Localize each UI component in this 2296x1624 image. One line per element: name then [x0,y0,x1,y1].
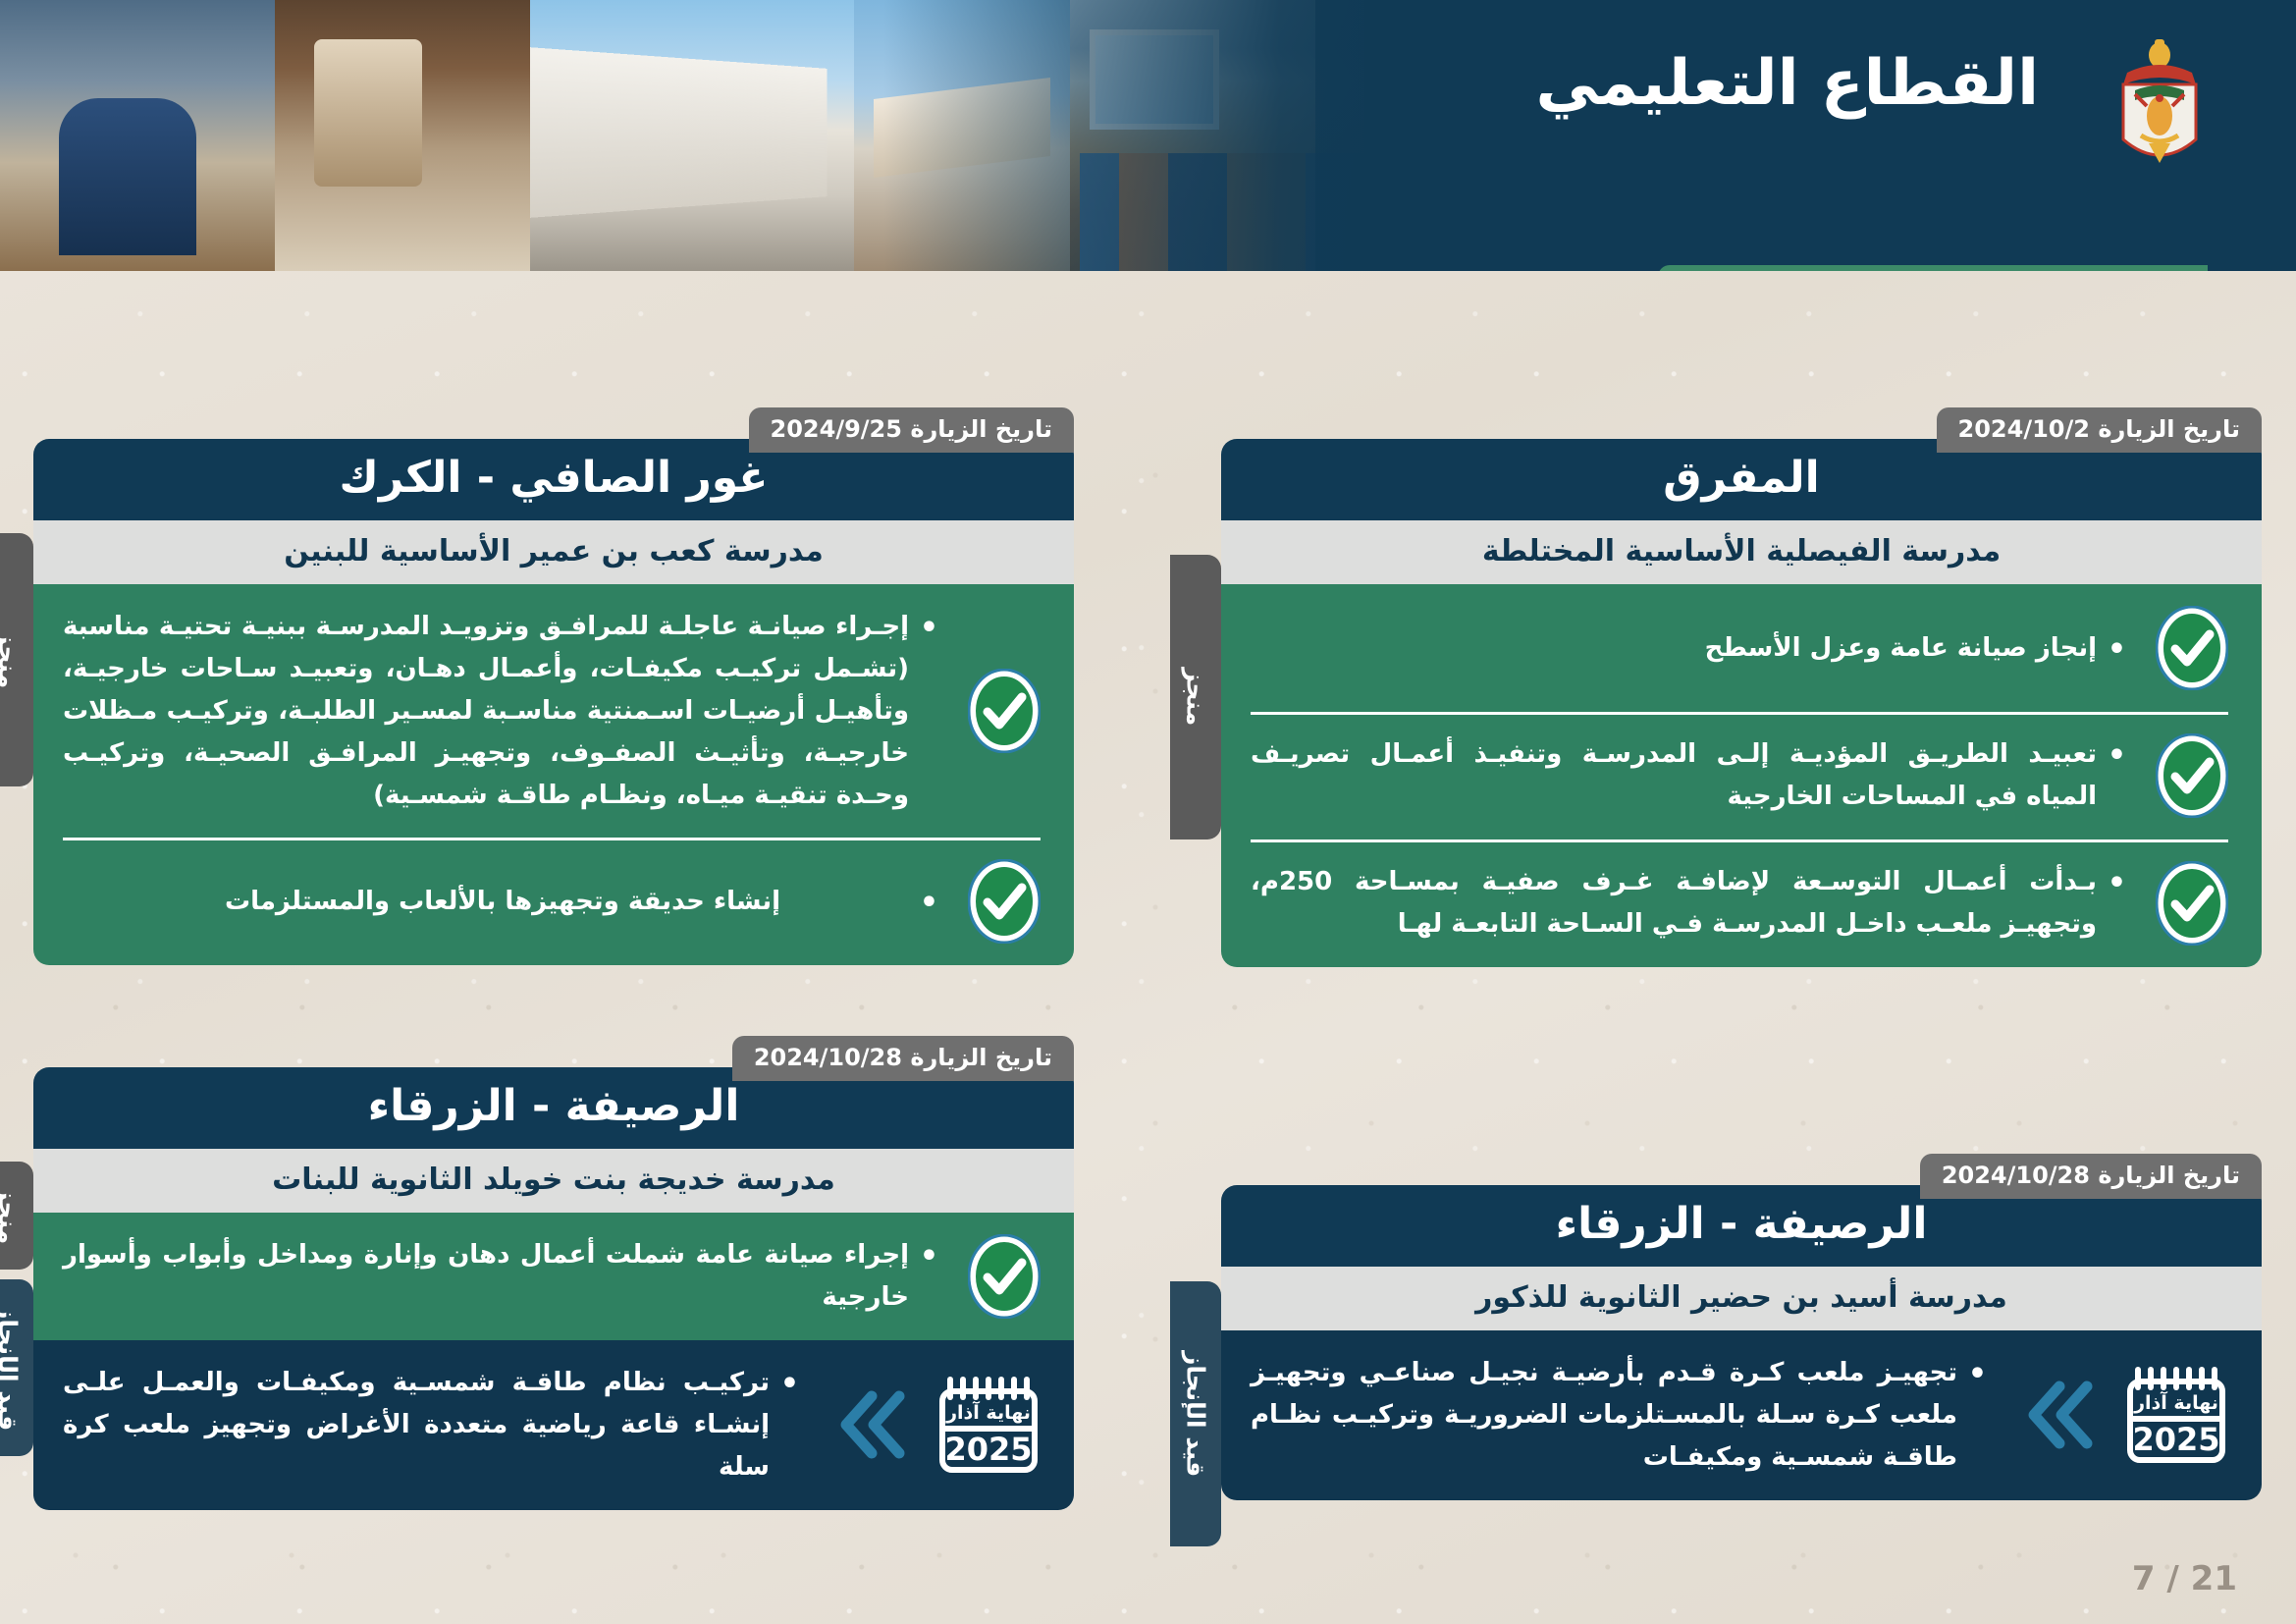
visit-date-chip: تاريخ الزيارة 2024/10/28 [1920,1154,2262,1199]
list-item[interactable]: إجـراء صيانـة عاجلـة للمرافـق وتزويـد ال… [33,584,1074,838]
header-photo-corridor [530,0,854,271]
list-item[interactable]: نهاية آذار 2025 تجهيـز ملعب كـرة قـدم بأ… [1221,1330,2262,1500]
section-ribbon: سير العمل [1658,265,2208,271]
list-item[interactable]: نهاية آذار 2025 تركيـب نظام طاقـة شمسـية… [33,1340,1074,1510]
list-item-text: تعبيـد الطريـق المؤديـة إلـى المدرسـة وت… [1251,733,2130,818]
page-title: القطاع التعليمي [1535,47,2039,120]
list-item-text: بـدأت أعمـال التوسـعة لإضافـة غـرف صفيـة… [1251,861,2130,946]
visit-date-label: تاريخ الزيارة [910,1044,1052,1071]
visit-date-chip: تاريخ الزيارة 2024/9/25 [749,407,1074,453]
visit-date-chip: تاريخ الزيارة 2024/10/2 [1937,407,2262,453]
list-item-text: إجـراء صيانـة عاجلـة للمرافـق وتزويـد ال… [63,606,942,816]
visit-date-label: تاريخ الزيارة [2098,415,2240,443]
status-badge-done: منجز [0,1162,33,1270]
check-circle-icon [2156,606,2228,690]
svg-text:2025: 2025 [944,1431,1032,1468]
svg-text:نهاية آذار: نهاية آذار [945,1400,1031,1424]
visit-date-value: 2024/10/2 [1958,415,2090,443]
visit-date-value: 2024/10/28 [1942,1162,2090,1189]
status-badge-done: منجز [0,533,33,786]
visit-date-label: تاريخ الزيارة [910,415,1052,443]
visit-date-value: 2024/10/28 [754,1044,902,1071]
list-item[interactable]: إنشاء حديقة وتجهيزها بالألعاب والمستلزما… [33,838,1074,965]
check-circle-icon [968,859,1041,944]
header-photo-visit [0,0,275,271]
visit-date-chip: تاريخ الزيارة 2024/10/28 [732,1036,1074,1081]
section-done: إنجاز صيانة عامة وعزل الأسطح تعبيـد الطر… [1221,584,2262,967]
check-circle-icon [2156,861,2228,946]
double-chevron-left-icon [828,1386,909,1463]
calendar-icon: نهاية آذار 2025 [2122,1364,2228,1466]
check-circle-icon [968,1234,1041,1319]
header-photo-fade-right [1315,0,1512,271]
calendar-icon: نهاية آذار 2025 [934,1374,1041,1476]
list-item[interactable]: بـدأت أعمـال التوسـعة لإضافـة غـرف صفيـة… [1221,839,2262,967]
page-number: 7 / 21 [2132,1559,2237,1598]
list-item[interactable]: إنجاز صيانة عامة وعزل الأسطح [1221,584,2262,712]
list-item[interactable]: تعبيـد الطريـق المؤديـة إلـى المدرسـة وت… [1221,712,2262,839]
visit-date-label: تاريخ الزيارة [2098,1162,2240,1189]
section-done: إجراء صيانة عامة شملت أعمال دهان وإنارة … [33,1213,1074,1340]
jordan-coat-of-arms-icon [2106,33,2214,181]
card-school-name: مدرسة كعب بن عمير الأساسية للبنين [33,520,1074,584]
header-photo-student-desk [275,0,530,271]
status-badge-in-progress: قيد الإنجاز [1170,1281,1221,1546]
slide-canvas: القطاع التعليمي سير العمل منجز تاريخ الز… [0,0,2296,1624]
section-in-progress: نهاية آذار 2025 تركيـب نظام طاقـة شمسـية… [33,1340,1074,1510]
check-circle-icon [2156,733,2228,818]
list-item-text: إجراء صيانة عامة شملت أعمال دهان وإنارة … [63,1234,942,1319]
list-item-text: إنشاء حديقة وتجهيزها بالألعاب والمستلزما… [63,881,942,923]
card-school-name: مدرسة الفيصلية الأساسية المختلطة [1221,520,2262,584]
check-circle-icon [968,669,1041,753]
svg-text:نهاية آذار: نهاية آذار [2133,1390,2218,1414]
list-item-text: إنجاز صيانة عامة وعزل الأسطح [1251,627,2130,670]
list-item-text: تركيـب نظام طاقـة شمسـية ومكيفـات والعمـ… [63,1362,803,1489]
slide-header: القطاع التعليمي سير العمل [0,0,2296,271]
card-school-name: مدرسة خديجة بنت خويلد الثانوية للبنات [33,1149,1074,1213]
status-badge-done: منجز [1170,555,1221,839]
section-done: إجـراء صيانـة عاجلـة للمرافـق وتزويـد ال… [33,584,1074,965]
section-in-progress: نهاية آذار 2025 تجهيـز ملعب كـرة قـدم بأ… [1221,1330,2262,1500]
card-school-name: مدرسة أسيد بن حضير الثانوية للذكور [1221,1267,2262,1330]
visit-date-value: 2024/9/25 [771,415,902,443]
svg-text:2025: 2025 [2132,1421,2219,1458]
list-item-text: تجهيـز ملعب كـرة قـدم بأرضيـة نجيـل صناع… [1251,1352,1991,1479]
list-item[interactable]: إجراء صيانة عامة شملت أعمال دهان وإنارة … [33,1213,1074,1340]
status-badge-in-progress: قيد الإنجاز [0,1279,33,1456]
double-chevron-left-icon [2016,1377,2097,1453]
